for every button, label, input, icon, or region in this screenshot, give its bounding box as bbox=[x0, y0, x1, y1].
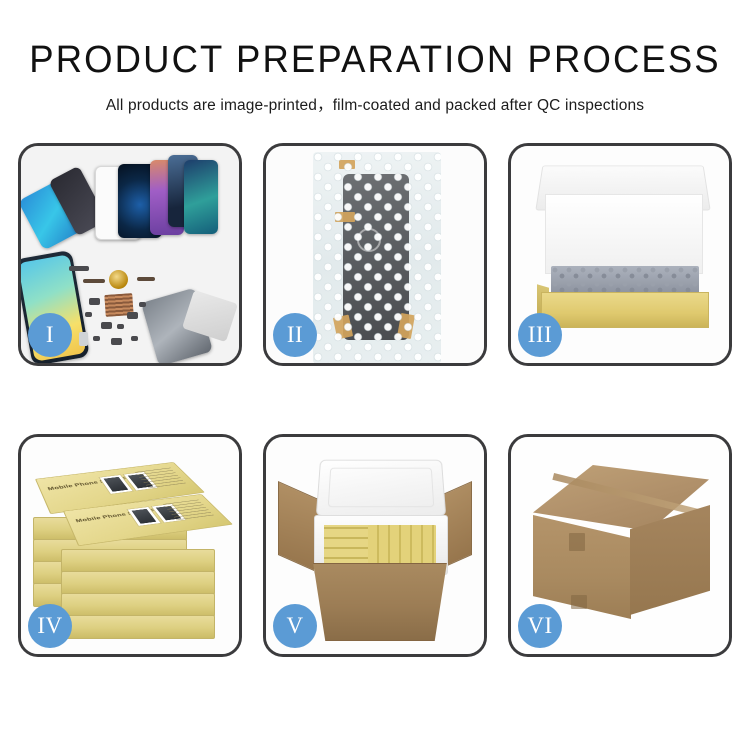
process-step-panel-6[interactable]: VI bbox=[508, 434, 732, 657]
small-part-icon bbox=[117, 324, 124, 329]
page-subtitle: All products are image-printed，film-coat… bbox=[0, 81, 750, 115]
small-part-icon bbox=[85, 312, 92, 317]
process-step-panel-2[interactable]: II bbox=[263, 143, 487, 366]
retail-box-icon bbox=[61, 593, 215, 617]
small-part-icon bbox=[127, 312, 138, 319]
step-badge-5: V bbox=[273, 604, 317, 648]
flex-cable-icon bbox=[83, 279, 105, 283]
small-part-icon bbox=[69, 266, 89, 271]
process-step-panel-4[interactable]: Mobile Phone Spare Parts Mobile Phone Sp… bbox=[18, 434, 242, 657]
packed-yellow-boxes-icon bbox=[324, 525, 368, 567]
page-title: PRODUCT PREPARATION PROCESS bbox=[15, 0, 735, 81]
step-badge-2: II bbox=[273, 313, 317, 357]
process-step-grid: I II III bbox=[18, 143, 732, 657]
step-badge-3: III bbox=[518, 313, 562, 357]
small-part-icon bbox=[131, 336, 138, 341]
small-part-icon bbox=[93, 336, 100, 341]
step-badge-6: VI bbox=[518, 604, 562, 648]
step-badge-4: IV bbox=[28, 604, 72, 648]
carton-body-icon bbox=[304, 563, 456, 641]
retail-box-icon bbox=[61, 615, 215, 639]
retail-box-icon bbox=[61, 549, 215, 573]
box-inner-liner-icon bbox=[545, 194, 703, 274]
process-step-panel-3[interactable]: III bbox=[508, 143, 732, 366]
small-part-icon bbox=[101, 322, 112, 329]
phone-display-teal-icon bbox=[184, 160, 218, 234]
page-header: PRODUCT PREPARATION PROCESS All products… bbox=[0, 0, 750, 115]
bubble-wrap-bag-icon bbox=[313, 152, 441, 363]
foam-cooler-lid-icon bbox=[316, 460, 446, 516]
connector-icon bbox=[79, 332, 88, 346]
small-part-icon bbox=[89, 298, 100, 305]
yellow-box-front-icon bbox=[541, 292, 709, 328]
carton-tape-icon bbox=[571, 595, 587, 609]
coil-component-icon bbox=[109, 270, 128, 289]
retail-box-icon bbox=[61, 571, 215, 595]
small-part-icon bbox=[111, 338, 122, 345]
process-step-panel-5[interactable]: V bbox=[263, 434, 487, 657]
bubble-texture-icon bbox=[313, 152, 441, 363]
carton-tape-icon bbox=[569, 533, 585, 551]
small-part-icon bbox=[139, 302, 146, 307]
process-step-panel-1[interactable]: I bbox=[18, 143, 242, 366]
flex-cable-icon bbox=[137, 277, 155, 281]
step-badge-1: I bbox=[28, 313, 72, 357]
